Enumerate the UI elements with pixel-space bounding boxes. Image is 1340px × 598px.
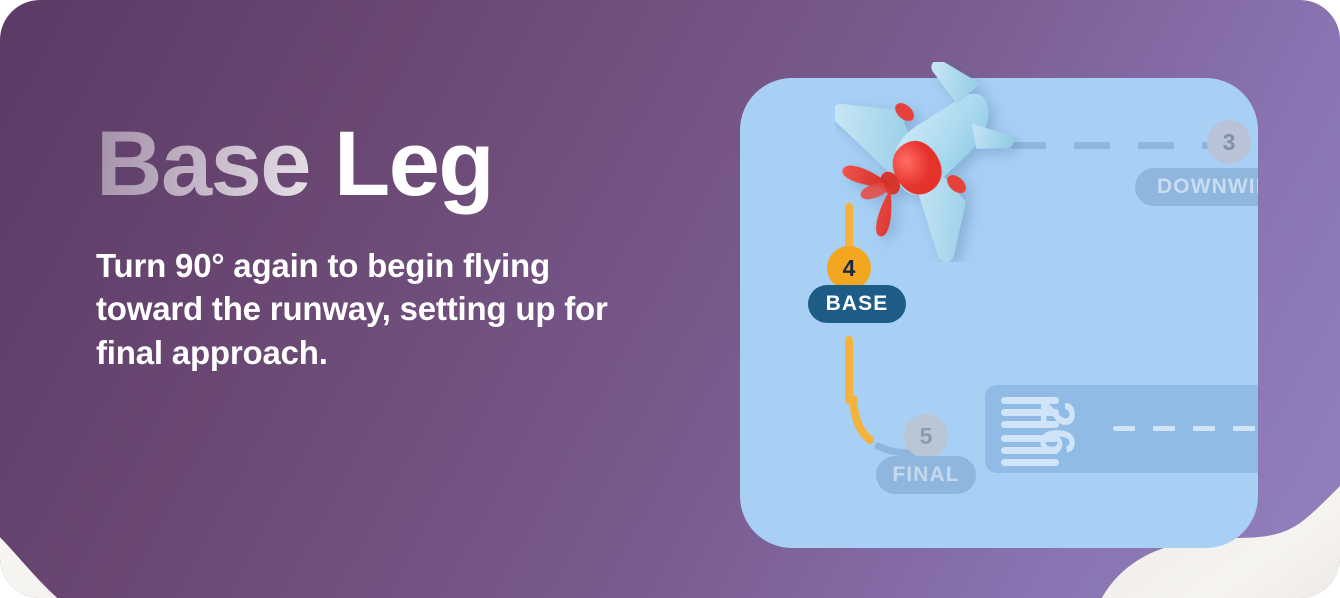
- leg-label-base[interactable]: BASE: [808, 285, 906, 323]
- page-title-strong: Leg: [334, 113, 493, 215]
- page-title: Base Leg: [96, 118, 696, 212]
- base-leg-path-lower: [845, 336, 853, 404]
- airplane-icon: [835, 62, 1025, 262]
- promo-card: Base Leg Turn 90° again to begin flying …: [0, 0, 1340, 598]
- step-badge-final[interactable]: 5: [904, 414, 948, 458]
- runway-centerline: [1113, 426, 1258, 431]
- leg-label-downwind[interactable]: DOWNWIND: [1135, 168, 1258, 206]
- decorative-blob-left: [0, 418, 262, 598]
- page-title-faded: Base: [96, 113, 334, 215]
- leg-label-final[interactable]: FINAL: [876, 456, 976, 494]
- step-badge-downwind[interactable]: 3: [1207, 120, 1251, 164]
- page-subtitle: Turn 90° again to begin flying toward th…: [96, 244, 656, 375]
- runway-threshold-stripe: [1001, 459, 1059, 466]
- runway-number: 26: [1029, 401, 1084, 456]
- runway: 26: [985, 385, 1258, 473]
- text-column: Base Leg Turn 90° again to begin flying …: [96, 118, 696, 374]
